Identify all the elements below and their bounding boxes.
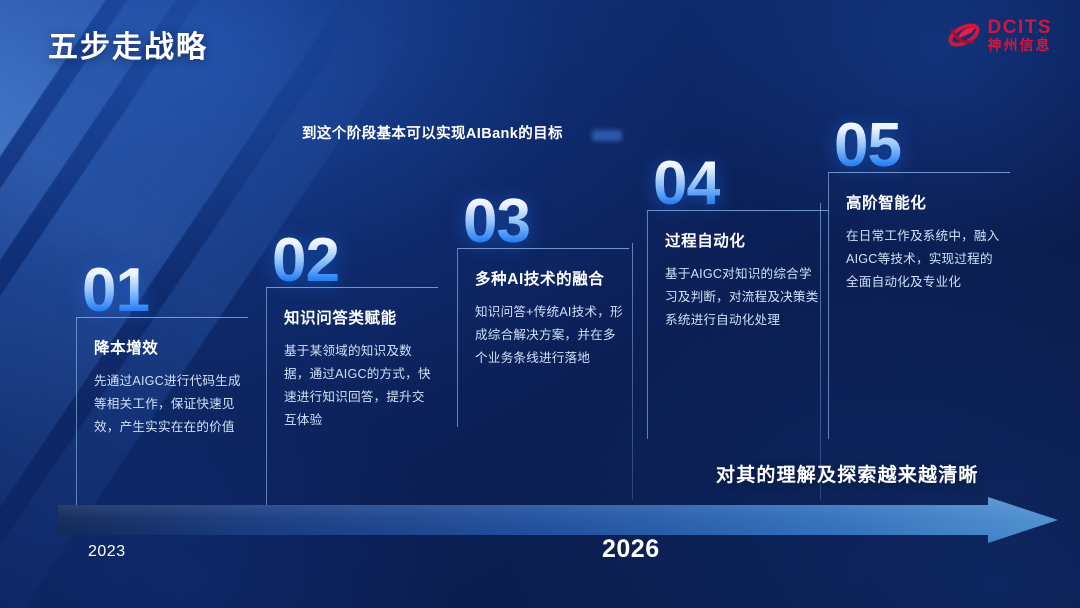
step-body-04: 基于AIGC对知识的综合学习及判断，对流程及决策类系统进行自动化处理 xyxy=(665,263,823,332)
page-title: 五步走战略 xyxy=(48,22,208,66)
step-body-05: 在日常工作及系统中，融入AIGC等技术，实现过程的全面自动化及专业化 xyxy=(846,225,1004,294)
step-frame-03: 多种AI技术的融合 知识问答+传统AI技术，形成综合解决方案，并在多个业务条线进… xyxy=(457,248,629,427)
step-title-05: 高阶智能化 xyxy=(846,191,1004,213)
step-number-04: 04 xyxy=(653,155,720,212)
step-number-01: 01 xyxy=(82,262,149,319)
logo-wordmark: DCITS 神州信息 xyxy=(988,18,1053,53)
logo-text-en: DCITS xyxy=(988,18,1053,38)
step-number-05: 05 xyxy=(834,117,901,174)
annotation-glow-decoration xyxy=(592,130,622,141)
timeline-arrow-icon xyxy=(58,497,1058,543)
step-frame-04: 过程自动化 基于AIGC对知识的综合学习及判断，对流程及决策类系统进行自动化处理 xyxy=(647,210,829,439)
step-card-04[interactable]: 04 过程自动化 基于AIGC对知识的综合学习及判断，对流程及决策类系统进行自动… xyxy=(647,155,819,439)
swoosh-logo-icon xyxy=(947,20,981,50)
step-card-03[interactable]: 03 多种AI技术的融合 知识问答+传统AI技术，形成综合解决方案，并在多个业务… xyxy=(457,193,629,427)
step-number-02: 02 xyxy=(272,232,339,289)
step-body-01: 先通过AIGC进行代码生成等相关工作，保证快速见效，产生实实在在的价值 xyxy=(94,370,242,439)
step-title-01: 降本增效 xyxy=(94,336,242,358)
step-card-05[interactable]: 05 高阶智能化 在日常工作及系统中，融入AIGC等技术，实现过程的全面自动化及… xyxy=(828,117,1000,439)
step-title-02: 知识问答类赋能 xyxy=(284,306,432,328)
connector-line-step-4 xyxy=(632,243,633,500)
year-label-end: 2026 xyxy=(602,535,660,564)
step-number-03: 03 xyxy=(463,193,530,250)
step-frame-01: 降本增效 先通过AIGC进行代码生成等相关工作，保证快速见效，产生实实在在的价值 xyxy=(76,317,248,506)
step-body-02: 基于某领域的知识及数据，通过AIGC的方式，快速进行知识回答，提升交互体验 xyxy=(284,340,432,432)
bottom-caption: 对其的理解及探索越来越清晰 xyxy=(716,460,979,487)
step-title-03: 多种AI技术的融合 xyxy=(475,267,623,289)
step-body-03: 知识问答+传统AI技术，形成综合解决方案，并在多个业务条线进行落地 xyxy=(475,301,623,370)
step-frame-02: 知识问答类赋能 基于某领域的知识及数据，通过AIGC的方式，快速进行知识回答，提… xyxy=(266,287,438,506)
step-frame-05: 高阶智能化 在日常工作及系统中，融入AIGC等技术，实现过程的全面自动化及专业化 xyxy=(828,172,1010,439)
slide-root: 五步走战略 DCITS 神州信息 到这个阶段基本可以实现AIBank的目标 01… xyxy=(0,0,1080,608)
step-card-02[interactable]: 02 知识问答类赋能 基于某领域的知识及数据，通过AIGC的方式，快速进行知识回… xyxy=(266,232,438,506)
step-title-04: 过程自动化 xyxy=(665,229,823,251)
brand-logo: DCITS 神州信息 xyxy=(947,18,1053,53)
step-card-01[interactable]: 01 降本增效 先通过AIGC进行代码生成等相关工作，保证快速见效，产生实实在在… xyxy=(76,262,248,506)
stage-annotation: 到这个阶段基本可以实现AIBank的目标 xyxy=(302,122,563,143)
timeline-arrow xyxy=(58,497,1058,543)
logo-text-cn: 神州信息 xyxy=(988,38,1053,53)
year-label-start: 2023 xyxy=(88,543,126,561)
